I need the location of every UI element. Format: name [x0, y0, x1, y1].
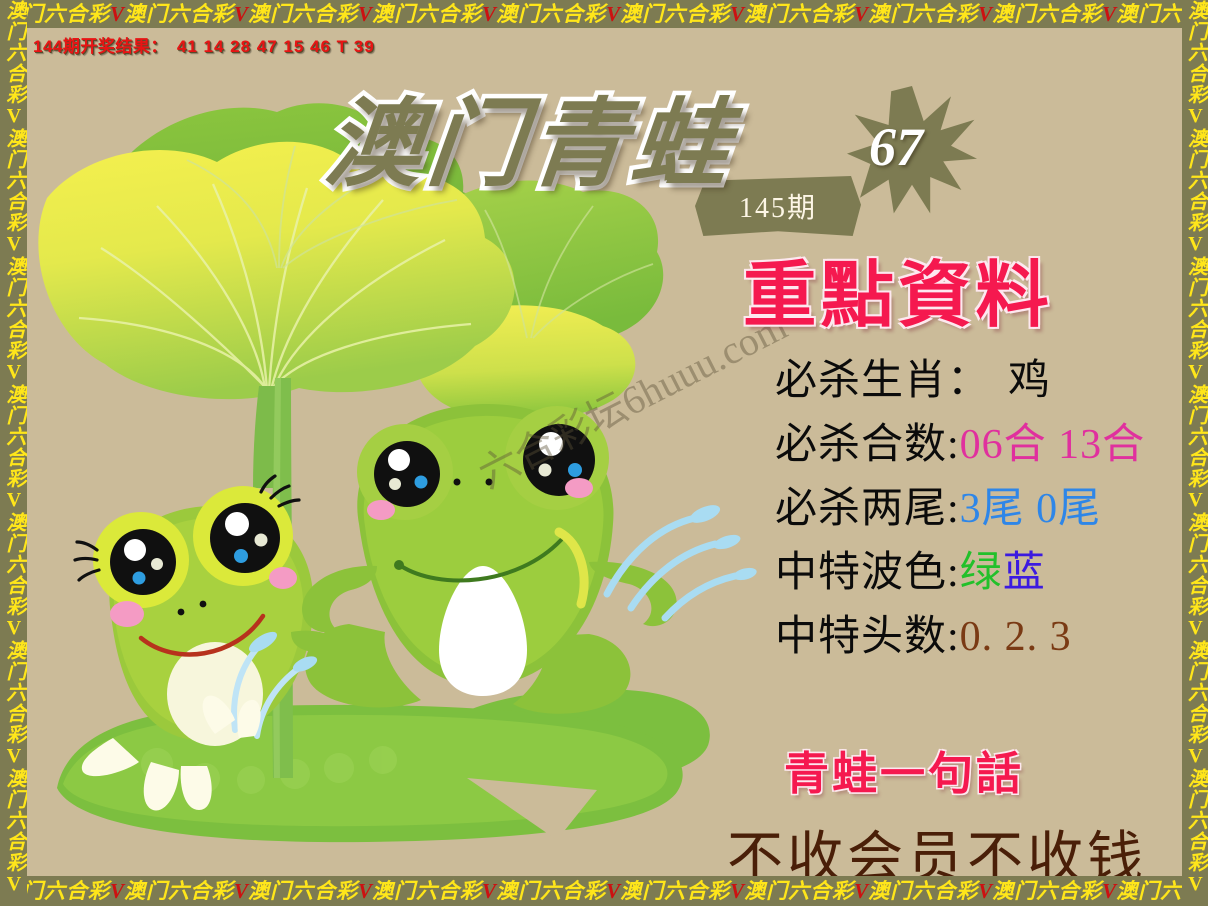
border-left: 澳门六合彩V澳门六合彩V澳门六合彩V澳门六合彩V澳门六合彩V澳门六合彩V澳门六合…: [0, 0, 27, 906]
key-data-heading: 重點資料: [743, 236, 1053, 341]
starburst-number: 67: [869, 116, 923, 178]
poster-canvas: 144期开奖结果：41 14 28 47 15 46 T 39 67 澳门青蛙 …: [27, 28, 1182, 876]
border-top-text: 澳门六合彩V澳门六合彩V澳门六合彩V澳门六合彩V澳门六合彩V澳门六合彩V澳门六合…: [0, 0, 1208, 28]
water-splash-left: [195, 626, 345, 746]
info-value-sum: 06合 13合: [960, 410, 1146, 471]
draw-result-numbers: 41 14 28 47 15 46 T 39: [177, 37, 375, 56]
issue-label: 145期: [739, 186, 817, 226]
border-right-text: 澳门六合彩V澳门六合彩V澳门六合彩V澳门六合彩V澳门六合彩V澳门六合彩V澳门六合…: [1182, 0, 1208, 906]
slogan-heading: 青蛙一句話: [784, 737, 1024, 802]
slogan-text: 不收会员不收钱: [727, 813, 1147, 876]
info-value-wave-blue: 蓝: [1003, 538, 1046, 599]
info-value-zodiac: 鸡: [1008, 346, 1051, 407]
draw-result-label: 144期开奖结果：: [33, 37, 168, 56]
border-bottom-text: 澳门六合彩V澳门六合彩V澳门六合彩V澳门六合彩V澳门六合彩V澳门六合彩V澳门六合…: [0, 876, 1208, 906]
page-title: 澳门青蛙: [320, 66, 743, 205]
border-bottom: 澳门六合彩V澳门六合彩V澳门六合彩V澳门六合彩V澳门六合彩V澳门六合彩V澳门六合…: [0, 876, 1208, 906]
info-value-tails: 3尾 0尾: [960, 474, 1102, 535]
info-label-zodiac: 必杀生肖：: [775, 346, 990, 407]
info-label-wave-color: 中特波色:: [775, 538, 960, 599]
info-row-head-number: 中特头数: 0. 2. 3: [775, 602, 1145, 666]
lottery-poster: 澳门六合彩V澳门六合彩V澳门六合彩V澳门六合彩V澳门六合彩V澳门六合彩V澳门六合…: [0, 0, 1208, 906]
info-label-tails: 必杀两尾:: [775, 474, 960, 535]
key-data-rows: 必杀生肖： 鸡 必杀合数: 06合 13合 必杀两尾: 3尾 0尾 中特波色: …: [775, 346, 1145, 666]
info-row-sum: 必杀合数: 06合 13合: [775, 410, 1145, 474]
info-row-wave-color: 中特波色: 绿 蓝: [775, 538, 1145, 602]
border-right: 澳门六合彩V澳门六合彩V澳门六合彩V澳门六合彩V澳门六合彩V澳门六合彩V澳门六合…: [1182, 0, 1208, 906]
info-value-wave-green: 绿: [960, 538, 1003, 599]
border-top: 澳门六合彩V澳门六合彩V澳门六合彩V澳门六合彩V澳门六合彩V澳门六合彩V澳门六合…: [0, 0, 1208, 28]
info-label-sum: 必杀合数:: [775, 410, 960, 471]
info-row-tails: 必杀两尾: 3尾 0尾: [775, 474, 1145, 538]
info-value-head-number: 0. 2. 3: [960, 613, 1072, 661]
border-left-text: 澳门六合彩V澳门六合彩V澳门六合彩V澳门六合彩V澳门六合彩V澳门六合彩V澳门六合…: [0, 0, 27, 906]
water-splash-right: [587, 498, 757, 628]
info-row-zodiac: 必杀生肖： 鸡: [775, 346, 1145, 410]
draw-result-line: 144期开奖结果：41 14 28 47 15 46 T 39: [33, 32, 375, 57]
info-label-head-number: 中特头数:: [775, 602, 960, 663]
